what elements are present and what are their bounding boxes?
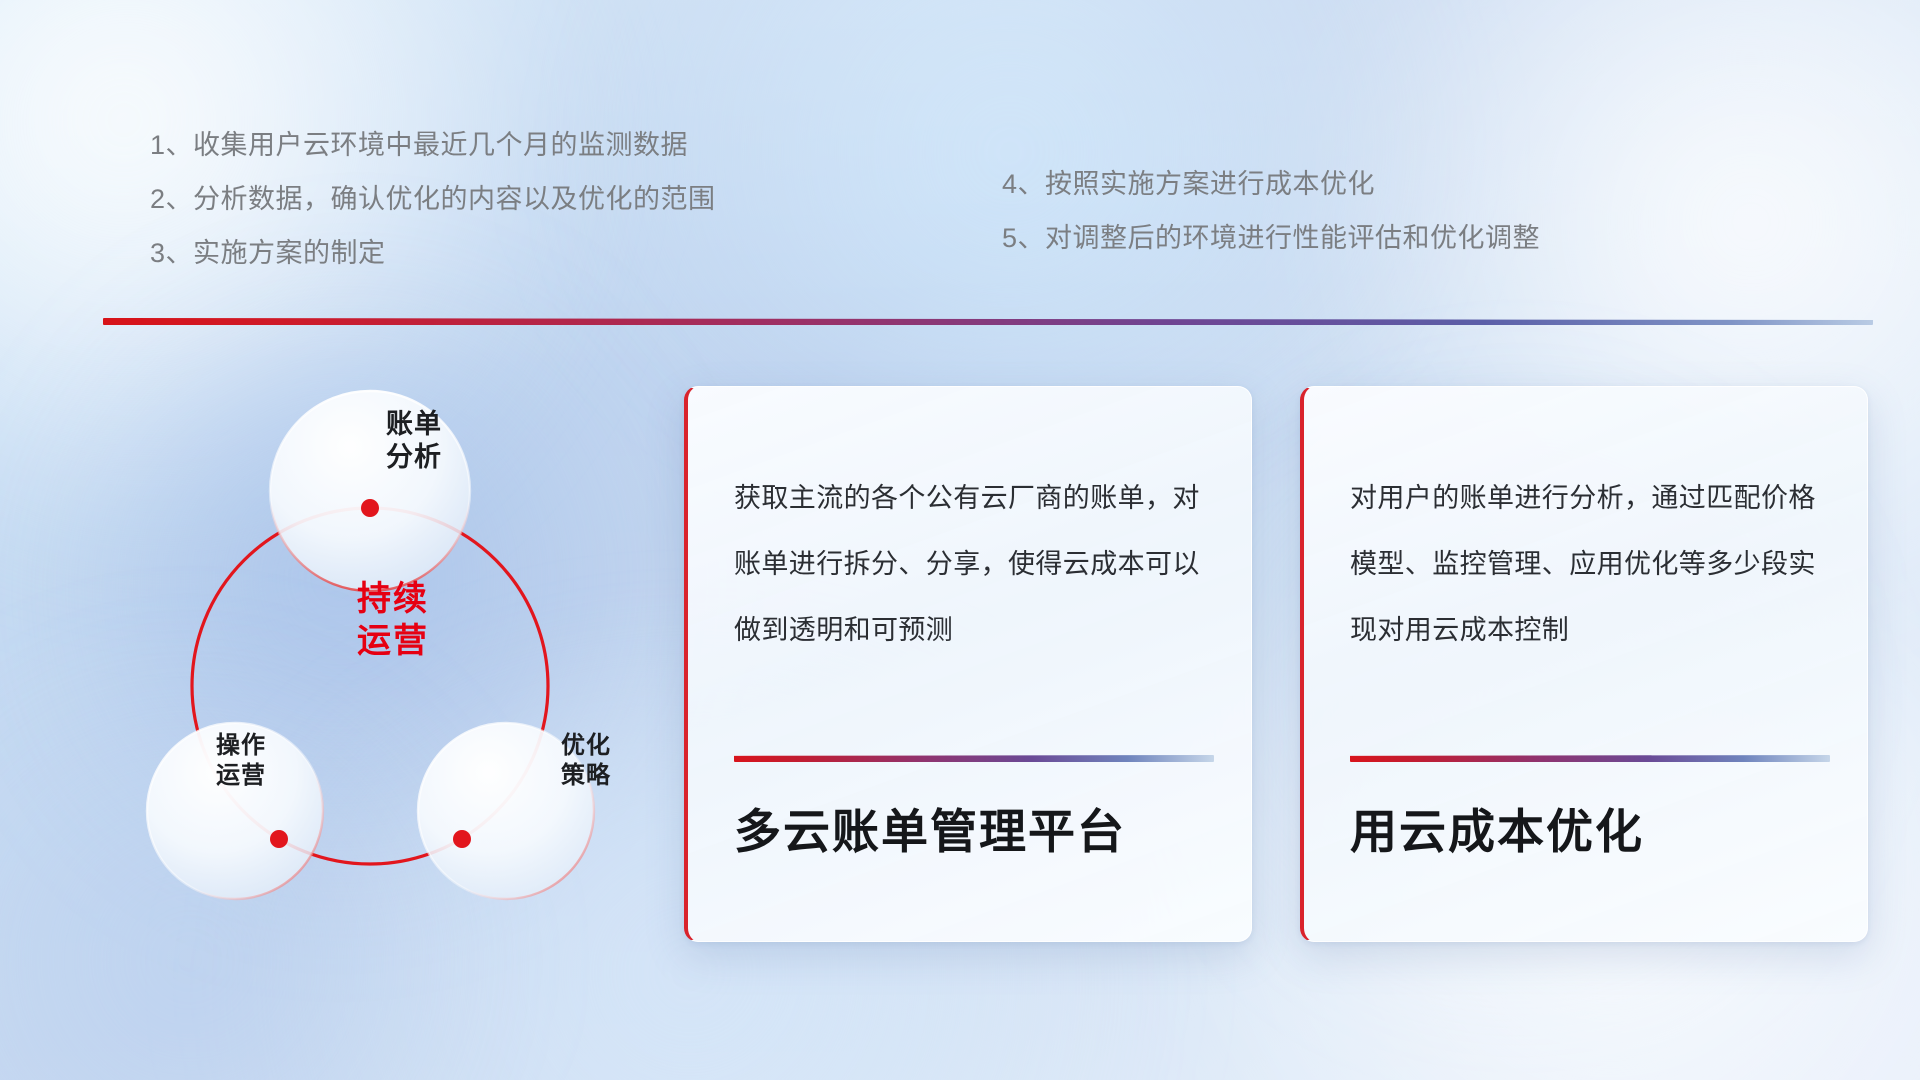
section-divider xyxy=(103,318,1873,325)
feature-card-cost-optimization[interactable]: 对用户的账单进行分析，通过匹配价格模型、监控管理、应用优化等多少段实现对用云成本… xyxy=(1300,386,1868,942)
feature-card-multicloud-billing[interactable]: 获取主流的各个公有云厂商的账单，对账单进行拆分、分享，使得云成本可以做到透明和可… xyxy=(684,386,1252,942)
card-divider xyxy=(1350,755,1830,762)
slide-content: 1、收集用户云环境中最近几个月的监测数据 2、分析数据，确认优化的内容以及优化的… xyxy=(0,0,1920,1080)
steps-column-left: 1、收集用户云环境中最近几个月的监测数据 2、分析数据，确认优化的内容以及优化的… xyxy=(150,118,716,280)
step-item: 2、分析数据，确认优化的内容以及优化的范围 xyxy=(150,172,716,226)
step-item: 5、对调整后的环境进行性能评估和优化调整 xyxy=(1002,211,1540,265)
card-title: 用云成本优化 xyxy=(1350,793,1850,862)
ring-dot-left xyxy=(270,830,288,848)
card-description: 对用户的账单进行分析，通过匹配价格模型、监控管理、应用优化等多少段实现对用云成本… xyxy=(1350,465,1837,663)
continuous-operation-diagram: 账单 分析 操作 运营 优化 策略 持续 运营 xyxy=(96,356,644,940)
node-label-ops-operation: 操作 运营 xyxy=(151,731,331,791)
card-description: 获取主流的各个公有云厂商的账单，对账单进行拆分、分享，使得云成本可以做到透明和可… xyxy=(734,465,1221,663)
ring-dot-top xyxy=(361,499,379,517)
steps-column-right: 4、按照实施方案进行成本优化 5、对调整后的环境进行性能评估和优化调整 xyxy=(1002,157,1540,265)
step-item: 1、收集用户云环境中最近几个月的监测数据 xyxy=(150,118,716,172)
card-divider xyxy=(734,755,1214,762)
ring-dot-right xyxy=(453,830,471,848)
node-label-bill-analysis: 账单 分析 xyxy=(324,408,504,475)
step-item: 4、按照实施方案进行成本优化 xyxy=(1002,157,1540,211)
step-item: 3、实施方案的制定 xyxy=(150,226,716,280)
card-title: 多云账单管理平台 xyxy=(734,793,1234,862)
diagram-center-label: 持续 运营 xyxy=(278,578,508,662)
node-label-opt-strategy: 优化 策略 xyxy=(496,731,676,791)
